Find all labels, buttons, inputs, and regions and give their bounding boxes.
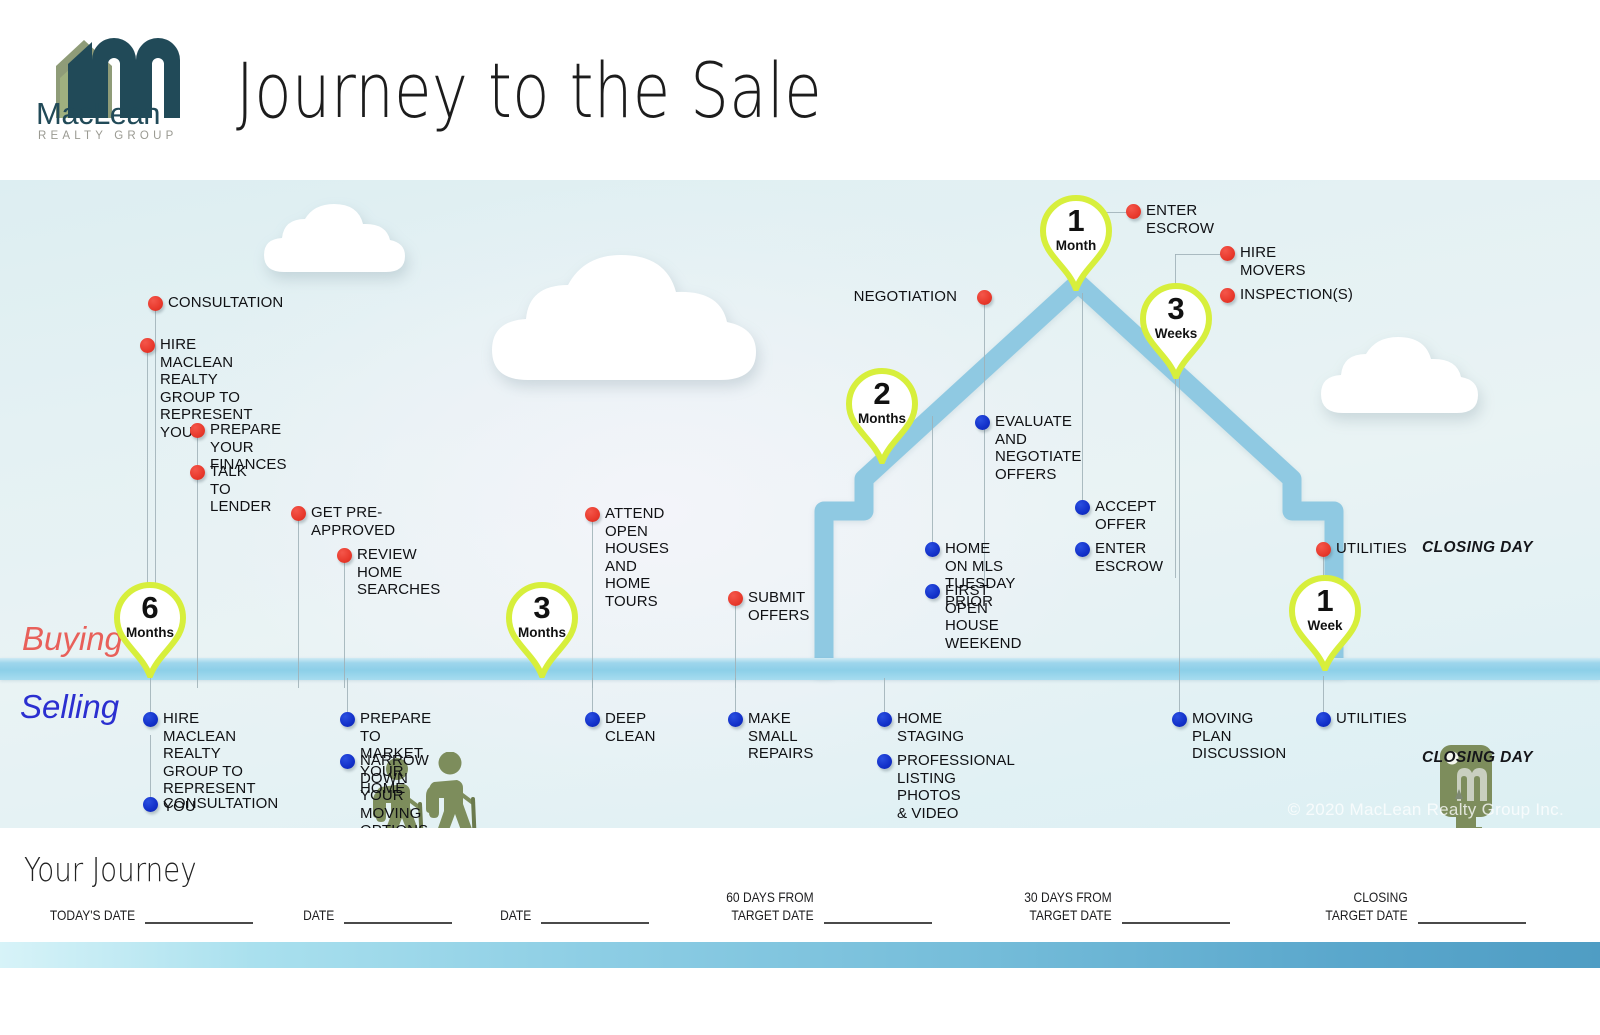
milestone-pin: 1 Month <box>1039 193 1113 291</box>
pin-number: 1 <box>1039 205 1113 236</box>
event-dot-blue <box>340 754 355 769</box>
event-label: HOME STAGING <box>897 710 964 745</box>
field-input-line[interactable] <box>145 908 253 924</box>
event-label: ENTER ESCROW <box>1146 202 1214 237</box>
event-label: MOVING PLAN DISCUSSION <box>1192 710 1286 763</box>
pin-unit: Months <box>505 625 579 640</box>
logo-tagline: REALTY GROUP <box>38 130 177 142</box>
milestone-pin: 3 Weeks <box>1139 281 1213 379</box>
pin-number: 6 <box>113 592 187 623</box>
field-label: DATE <box>500 906 531 924</box>
event-label: FIRST OPEN HOUSE WEEKEND <box>945 582 1022 652</box>
field-label: 30 DAYS FROM TARGET DATE <box>1024 888 1111 924</box>
event-dot-blue <box>925 584 940 599</box>
event-label: CONSULTATION <box>168 294 283 312</box>
event-label: DEEP CLEAN <box>605 710 656 745</box>
field-label: TODAY'S DATE <box>50 906 135 924</box>
pin-unit: Month <box>1039 238 1113 253</box>
event-dot-blue <box>925 542 940 557</box>
journey-date-field[interactable]: DATE <box>298 906 452 924</box>
event-dot-red <box>728 591 743 606</box>
pin-number: 1 <box>1288 585 1362 616</box>
event-dot-red <box>1126 204 1141 219</box>
footer: Your Journey TODAY'S DATE DATE DATE 60 D… <box>0 828 1600 1035</box>
lane-label-buying: Buying <box>22 620 123 658</box>
field-input-line[interactable] <box>541 908 649 924</box>
event-label: MAKE SMALL REPAIRS <box>748 710 813 763</box>
event-label: ACCEPT OFFER <box>1095 498 1156 533</box>
footer-title: Your Journey <box>24 850 197 889</box>
event-dot-red <box>291 506 306 521</box>
event-dot-red <box>1220 288 1235 303</box>
event-dot-red <box>148 296 163 311</box>
event-dot-blue <box>877 712 892 727</box>
closing-day-label-bottom: CLOSING DAY <box>1422 749 1533 767</box>
timeline-canvas: Buying Selling CLOSING DAY CLOSING DAY ©… <box>0 180 1600 828</box>
event-label: NEGOTIATION <box>854 288 957 306</box>
footer-gradient-strip <box>0 942 1600 968</box>
milestone-pin: 2 Months <box>845 366 919 464</box>
event-dot-red <box>337 548 352 563</box>
event-dot-red <box>140 338 155 353</box>
event-dot-blue <box>1172 712 1187 727</box>
field-input-line[interactable] <box>824 908 932 924</box>
pin-number: 3 <box>1139 293 1213 324</box>
milestone-pin: 1 Week <box>1288 573 1362 671</box>
pin-number: 2 <box>845 378 919 409</box>
event-dot-red <box>1316 542 1331 557</box>
event-label: NARROW DOWN YOUR MOVING OPTIONS <box>360 752 429 828</box>
pin-number: 3 <box>505 592 579 623</box>
event-label: GET PRE-APPROVED <box>311 504 395 539</box>
event-label: UTILITIES <box>1336 540 1407 558</box>
cloud-icon <box>488 252 768 384</box>
milestone-pin: 6 Months <box>113 580 187 678</box>
event-dot-blue <box>975 415 990 430</box>
infographic-root: MacLean REALTY GROUP Journey to the Sale <box>0 0 1600 1035</box>
event-dot-red <box>190 465 205 480</box>
event-label: REVIEW HOME SEARCHES <box>357 546 440 599</box>
header: MacLean REALTY GROUP Journey to the Sale <box>0 0 1600 180</box>
journey-date-field[interactable]: 30 DAYS FROM TARGET DATE <box>1010 888 1230 924</box>
lane-label-selling: Selling <box>20 688 119 726</box>
copyright-text: © 2020 MacLean Realty Group Inc. <box>1288 800 1564 820</box>
event-label: INSPECTION(S) <box>1240 286 1353 304</box>
event-dot-red <box>190 423 205 438</box>
field-label: DATE <box>303 906 334 924</box>
pin-unit: Week <box>1288 618 1362 633</box>
journey-date-field[interactable]: DATE <box>495 906 649 924</box>
event-dot-blue <box>1075 500 1090 515</box>
event-label: EVALUATE AND NEGOTIATE OFFERS <box>995 413 1081 483</box>
event-dot-blue <box>340 712 355 727</box>
field-label: CLOSING TARGET DATE <box>1325 888 1407 924</box>
page-title: Journey to the Sale <box>236 46 822 135</box>
journey-date-field[interactable]: 60 DAYS FROM TARGET DATE <box>712 888 932 924</box>
pin-unit: Months <box>845 411 919 426</box>
event-dot-blue <box>143 712 158 727</box>
pin-unit: Weeks <box>1139 326 1213 341</box>
pin-unit: Months <box>113 625 187 640</box>
event-label: HIRE MOVERS <box>1240 244 1306 279</box>
field-input-line[interactable] <box>1418 908 1526 924</box>
event-dot-red <box>977 290 992 305</box>
journey-date-field[interactable]: CLOSING TARGET DATE <box>1312 888 1526 924</box>
event-label: PROFESSIONAL LISTING PHOTOS & VIDEO <box>897 752 1015 822</box>
event-dot-blue <box>1316 712 1331 727</box>
event-label: TALK TO LENDER <box>210 463 271 516</box>
event-label: ATTEND OPEN HOUSES AND HOME TOURS <box>605 505 669 610</box>
field-input-line[interactable] <box>1122 908 1230 924</box>
event-dot-red <box>585 507 600 522</box>
logo-wordmark: MacLean <box>36 96 160 132</box>
field-label: 60 DAYS FROM TARGET DATE <box>726 888 813 924</box>
event-dot-blue <box>143 797 158 812</box>
event-label: CONSULTATION <box>163 795 278 813</box>
closing-day-label-top: CLOSING DAY <box>1422 539 1533 557</box>
event-dot-blue <box>877 754 892 769</box>
event-dot-blue <box>728 712 743 727</box>
event-dot-blue <box>1075 542 1090 557</box>
cloud-icon <box>262 202 407 274</box>
event-dot-blue <box>585 712 600 727</box>
event-label: ENTER ESCROW <box>1095 540 1163 575</box>
event-label: SUBMIT OFFERS <box>748 589 809 624</box>
event-label: UTILITIES <box>1336 710 1407 728</box>
journey-date-field[interactable]: TODAY'S DATE <box>36 906 253 924</box>
field-input-line[interactable] <box>344 908 452 924</box>
milestone-pin: 3 Months <box>505 580 579 678</box>
event-dot-red <box>1220 246 1235 261</box>
